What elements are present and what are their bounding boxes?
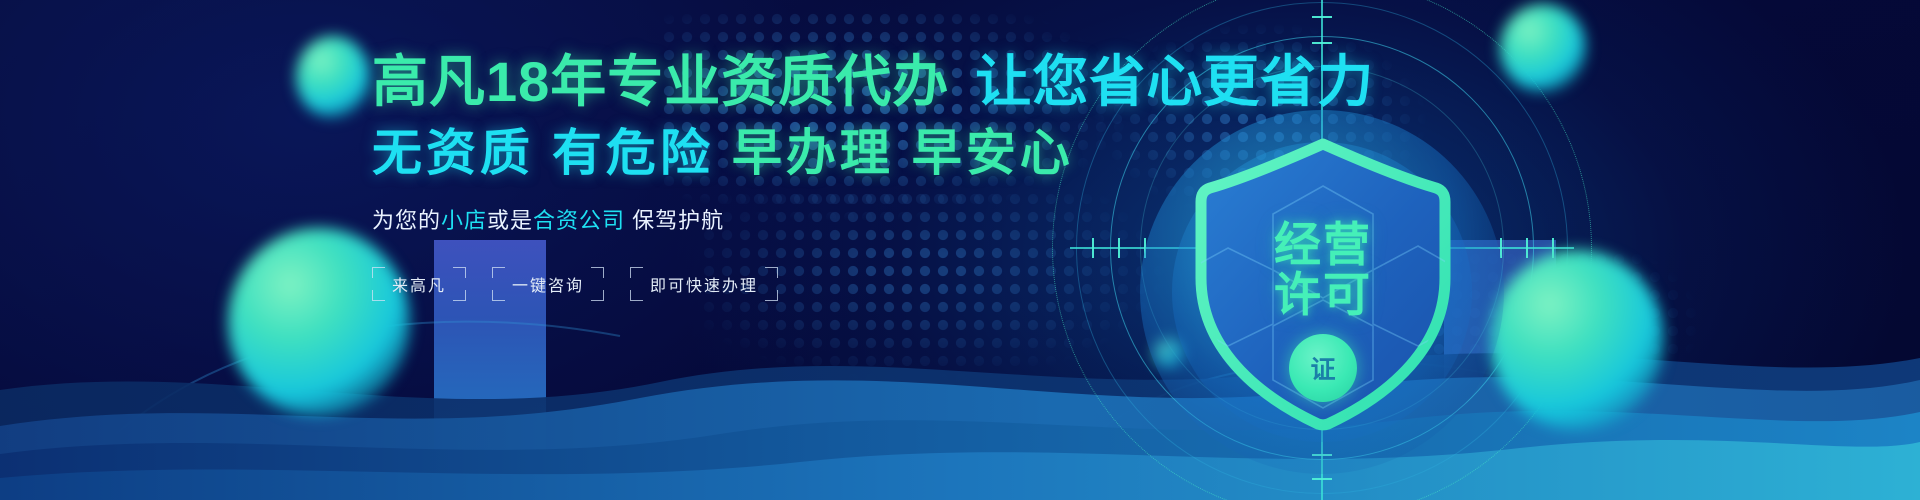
corner-bracket-icon [630,290,643,301]
wave-layer-mid [0,377,1920,500]
cta-button-3-label: 即可快速办理 [650,272,758,296]
corner-bracket-icon [630,267,643,278]
cta-button-2[interactable]: 一键咨询 [492,267,604,301]
corner-bracket-icon [765,290,778,301]
cta-button-row: 来高凡 一键咨询 即可快速办理 [372,267,1202,301]
subtitle-highlight-2: 合资公司 [533,208,625,233]
corner-bracket-icon [372,290,385,301]
glow-sphere [1490,250,1664,430]
shield-badge-circle: 证 [1289,334,1357,402]
subtitle-highlight-1: 小店 [441,208,487,233]
corner-bracket-icon [591,267,604,278]
glow-sphere [1500,4,1586,92]
headline-secondary-seg-2: 有危险 [552,125,714,181]
wave-layer-back [0,353,1920,500]
reticle-tick [1312,16,1332,18]
wave-layer-highlight [0,440,1920,500]
subtitle-mid: 或是 [487,208,533,233]
reticle-tick [1312,42,1332,44]
corner-bracket-icon [492,290,505,301]
headline-primary: 高凡18年专业资质代办让您省心更省力 [372,52,1202,112]
subtitle-lead: 为您的 [372,208,441,233]
cta-button-1[interactable]: 来高凡 [372,267,466,301]
corner-bracket-icon [453,267,466,278]
shield-text-line-2: 许可 [1168,256,1478,325]
subtitle-text: 为您的小店或是合资公司 保驾护航 [372,203,1202,235]
reticle-tick [1552,238,1554,258]
headline-secondary: 无资质 有危险 早办理 早安心 [372,126,1202,181]
arc-accent [60,322,620,495]
shield-badge-label: 证 [1310,350,1335,386]
headline-secondary-seg-1: 无资质 [372,125,534,181]
subtitle-tail: 保驾护航 [625,208,724,233]
headline-primary-cyan: 让您省心更省力 [975,50,1374,113]
cta-button-3[interactable]: 即可快速办理 [630,267,778,301]
corner-bracket-icon [765,267,778,278]
corner-bracket-icon [492,267,505,278]
wave-layer-front [0,411,1920,500]
headline-primary-green: 高凡18年专业资质代办 [372,50,949,113]
cta-button-1-label: 来高凡 [392,272,446,296]
license-shield-emblem: 经营 许可 证 [1168,128,1478,448]
corner-bracket-icon [591,290,604,301]
headline-secondary-seg-4: 早安心 [912,125,1074,181]
cta-button-2-label: 一键咨询 [512,272,584,296]
promo-banner: 经营 许可 证 高凡18年专业资质代办让您省心更省力 无资质 有危险 早办理 早… [0,0,1920,500]
banner-copy-block: 高凡18年专业资质代办让您省心更省力 无资质 有危险 早办理 早安心 为您的小店… [372,52,1202,301]
headline-secondary-seg-3: 早办理 [732,125,894,181]
reticle-tick [1526,238,1528,258]
reticle-tick [1312,478,1332,480]
corner-bracket-icon [453,290,466,301]
corner-bracket-icon [372,267,385,278]
glow-sphere [296,36,370,118]
